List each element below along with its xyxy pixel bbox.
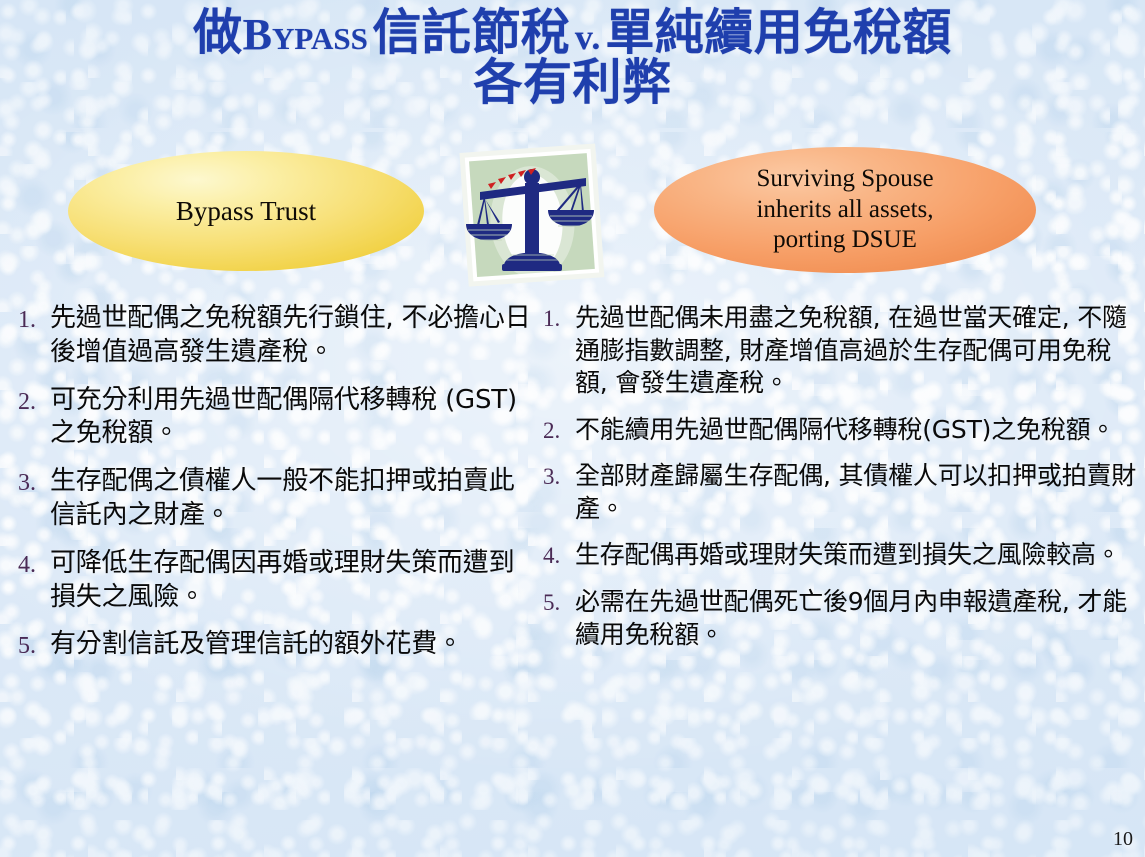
list-item-text: 全部財產歸屬生存配偶, 其債權人可以扣押或拍賣財產。 — [575, 460, 1141, 525]
list-item-number: 2. — [18, 384, 50, 418]
bypass-trust-ellipse: Bypass Trust — [68, 151, 424, 271]
list-item-number: 3. — [543, 460, 575, 493]
surviving-spouse-line-1: Surviving Spouse — [756, 164, 933, 195]
bypass-trust-points-list: 1. 先過世配偶之免稅額先行鎖住, 不必擔心日後增值過高發生遺產稅。 2. 可充… — [18, 302, 538, 677]
list-item-text: 可充分利用先過世配偶隔代移轉稅 (GST)之免稅額。 — [50, 384, 538, 452]
list-item: 3. 生存配偶之債權人一般不能扣押或拍賣此信託內之財產。 — [18, 465, 538, 533]
title-versus: v. — [575, 17, 601, 57]
slide-title: 做Bypass 信託節稅 v. 單純續用免稅額 各有利弊 — [0, 8, 1145, 108]
title-cjk-mid: 信託節稅 — [372, 4, 570, 61]
title-line-1: 做Bypass 信託節稅 v. 單純續用免稅額 — [0, 8, 1145, 58]
bypass-trust-label: Bypass Trust — [176, 196, 316, 227]
list-item: 4. 生存配偶再婚或理財失策而遭到損失之風險較高。 — [543, 539, 1141, 572]
portability-points-list: 1. 先過世配偶未用盡之免稅額, 在過世當天確定, 不隨通膨指數調整, 財產增值… — [543, 302, 1141, 665]
list-item: 5. 必需在先過世配偶死亡後9個月內申報遺產稅, 才能續用免稅額。 — [543, 586, 1141, 651]
list-item-text: 生存配偶再婚或理財失策而遭到損失之風險較高。 — [575, 539, 1141, 572]
list-item-number: 5. — [543, 586, 575, 619]
title-cjk-prefix: 做 — [193, 4, 243, 61]
list-item-text: 生存配偶之債權人一般不能扣押或拍賣此信託內之財產。 — [50, 465, 538, 533]
balance-scales-icon — [458, 142, 608, 290]
list-item-text: 先過世配偶之免稅額先行鎖住, 不必擔心日後增值過高發生遺產稅。 — [50, 302, 538, 370]
title-line-2: 各有利弊 — [0, 58, 1145, 108]
surviving-spouse-ellipse: Surviving Spouse inherits all assets, po… — [654, 147, 1036, 273]
surviving-spouse-line-3: porting DSUE — [756, 225, 933, 256]
list-item-number: 4. — [18, 547, 50, 581]
list-item: 2. 可充分利用先過世配偶隔代移轉稅 (GST)之免稅額。 — [18, 384, 538, 452]
list-item-number: 5. — [18, 628, 50, 662]
list-item-number: 1. — [543, 302, 575, 335]
list-item: 3. 全部財產歸屬生存配偶, 其債權人可以扣押或拍賣財產。 — [543, 460, 1141, 525]
list-item: 1. 先過世配偶未用盡之免稅額, 在過世當天確定, 不隨通膨指數調整, 財產增值… — [543, 302, 1141, 400]
list-item: 1. 先過世配偶之免稅額先行鎖住, 不必擔心日後增值過高發生遺產稅。 — [18, 302, 538, 370]
list-item-text: 先過世配偶未用盡之免稅額, 在過世當天確定, 不隨通膨指數調整, 財產增值高過於… — [575, 302, 1141, 400]
list-item-number: 3. — [18, 465, 50, 499]
surviving-spouse-line-2: inherits all assets, — [756, 195, 933, 226]
list-item-text: 有分割信託及管理信託的額外花費。 — [50, 628, 538, 662]
list-item: 4. 可降低生存配偶因再婚或理財失策而遭到損失之風險。 — [18, 547, 538, 615]
title-latin-bypass: Bypass — [243, 10, 368, 59]
slide-canvas: 做Bypass 信託節稅 v. 單純續用免稅額 各有利弊 Bypass Trus… — [0, 0, 1145, 857]
list-item-text: 不能續用先過世配偶隔代移轉稅(GST)之免稅額。 — [575, 414, 1141, 447]
list-item-number: 2. — [543, 414, 575, 447]
list-item-number: 1. — [18, 302, 50, 336]
list-item-number: 4. — [543, 539, 575, 572]
list-item-text: 可降低生存配偶因再婚或理財失策而遭到損失之風險。 — [50, 547, 538, 615]
surviving-spouse-label: Surviving Spouse inherits all assets, po… — [756, 164, 933, 256]
list-item: 2. 不能續用先過世配偶隔代移轉稅(GST)之免稅額。 — [543, 414, 1141, 447]
list-item: 5. 有分割信託及管理信託的額外花費。 — [18, 628, 538, 662]
list-item-text: 必需在先過世配偶死亡後9個月內申報遺產稅, 才能續用免稅額。 — [575, 586, 1141, 651]
page-number: 10 — [1113, 828, 1133, 851]
title-cjk-suffix: 單純續用免稅額 — [605, 4, 952, 61]
